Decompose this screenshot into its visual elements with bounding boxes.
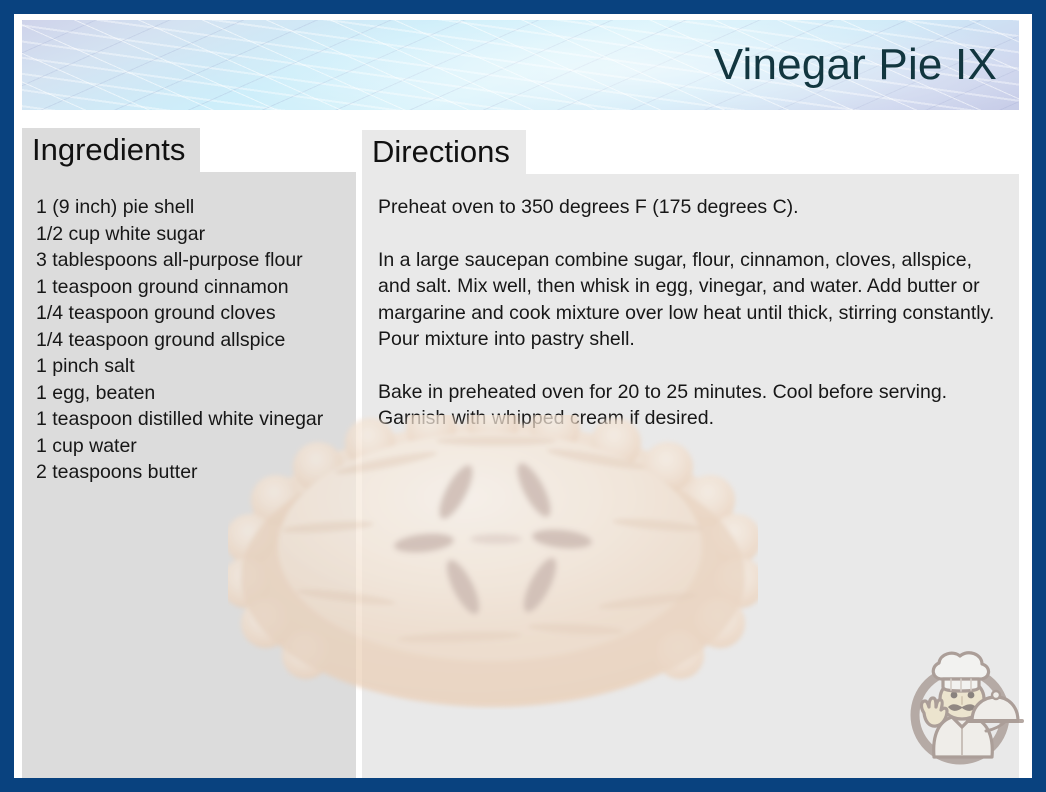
tab-directions[interactable]: Directions (362, 130, 526, 174)
direction-step: Preheat oven to 350 degrees F (175 degre… (378, 194, 1003, 221)
list-item: 1 teaspoon distilled white vinegar (36, 406, 342, 433)
list-item: 1/2 cup white sugar (36, 221, 342, 248)
directions-panel: Preheat oven to 350 degrees F (175 degre… (362, 174, 1019, 778)
frame-top-border (0, 0, 1046, 14)
ingredients-panel: 1 (9 inch) pie shell 1/2 cup white sugar… (22, 172, 356, 778)
tab-ingredients-label: Ingredients (32, 132, 185, 167)
directions-steps: Preheat oven to 350 degrees F (175 degre… (378, 194, 1003, 432)
tab-ingredients[interactable]: Ingredients (22, 128, 200, 172)
list-item: 1 (9 inch) pie shell (36, 194, 342, 221)
list-item: 1/4 teaspoon ground allspice (36, 327, 342, 354)
tab-directions-label: Directions (372, 134, 510, 169)
list-item: 1 pinch salt (36, 353, 342, 380)
ingredients-list: 1 (9 inch) pie shell 1/2 cup white sugar… (36, 194, 342, 486)
frame-left-border (0, 0, 14, 792)
recipe-card-slide: 1 (9 inch) pie shell 1/2 cup white sugar… (0, 0, 1046, 792)
list-item: 1 teaspoon ground cinnamon (36, 274, 342, 301)
list-item: 1/4 teaspoon ground cloves (36, 300, 342, 327)
frame-bottom-border (0, 778, 1046, 792)
header-banner: Vinegar Pie IX (22, 20, 1019, 110)
list-item: 1 cup water (36, 433, 342, 460)
list-item: 3 tablespoons all-purpose flour (36, 247, 342, 274)
direction-step: Bake in preheated oven for 20 to 25 minu… (378, 379, 1003, 432)
list-item: 2 teaspoons butter (36, 459, 342, 486)
direction-step: In a large saucepan combine sugar, flour… (378, 247, 1003, 353)
list-item: 1 egg, beaten (36, 380, 342, 407)
page-title: Vinegar Pie IX (714, 43, 997, 87)
frame-right-border (1032, 0, 1046, 792)
